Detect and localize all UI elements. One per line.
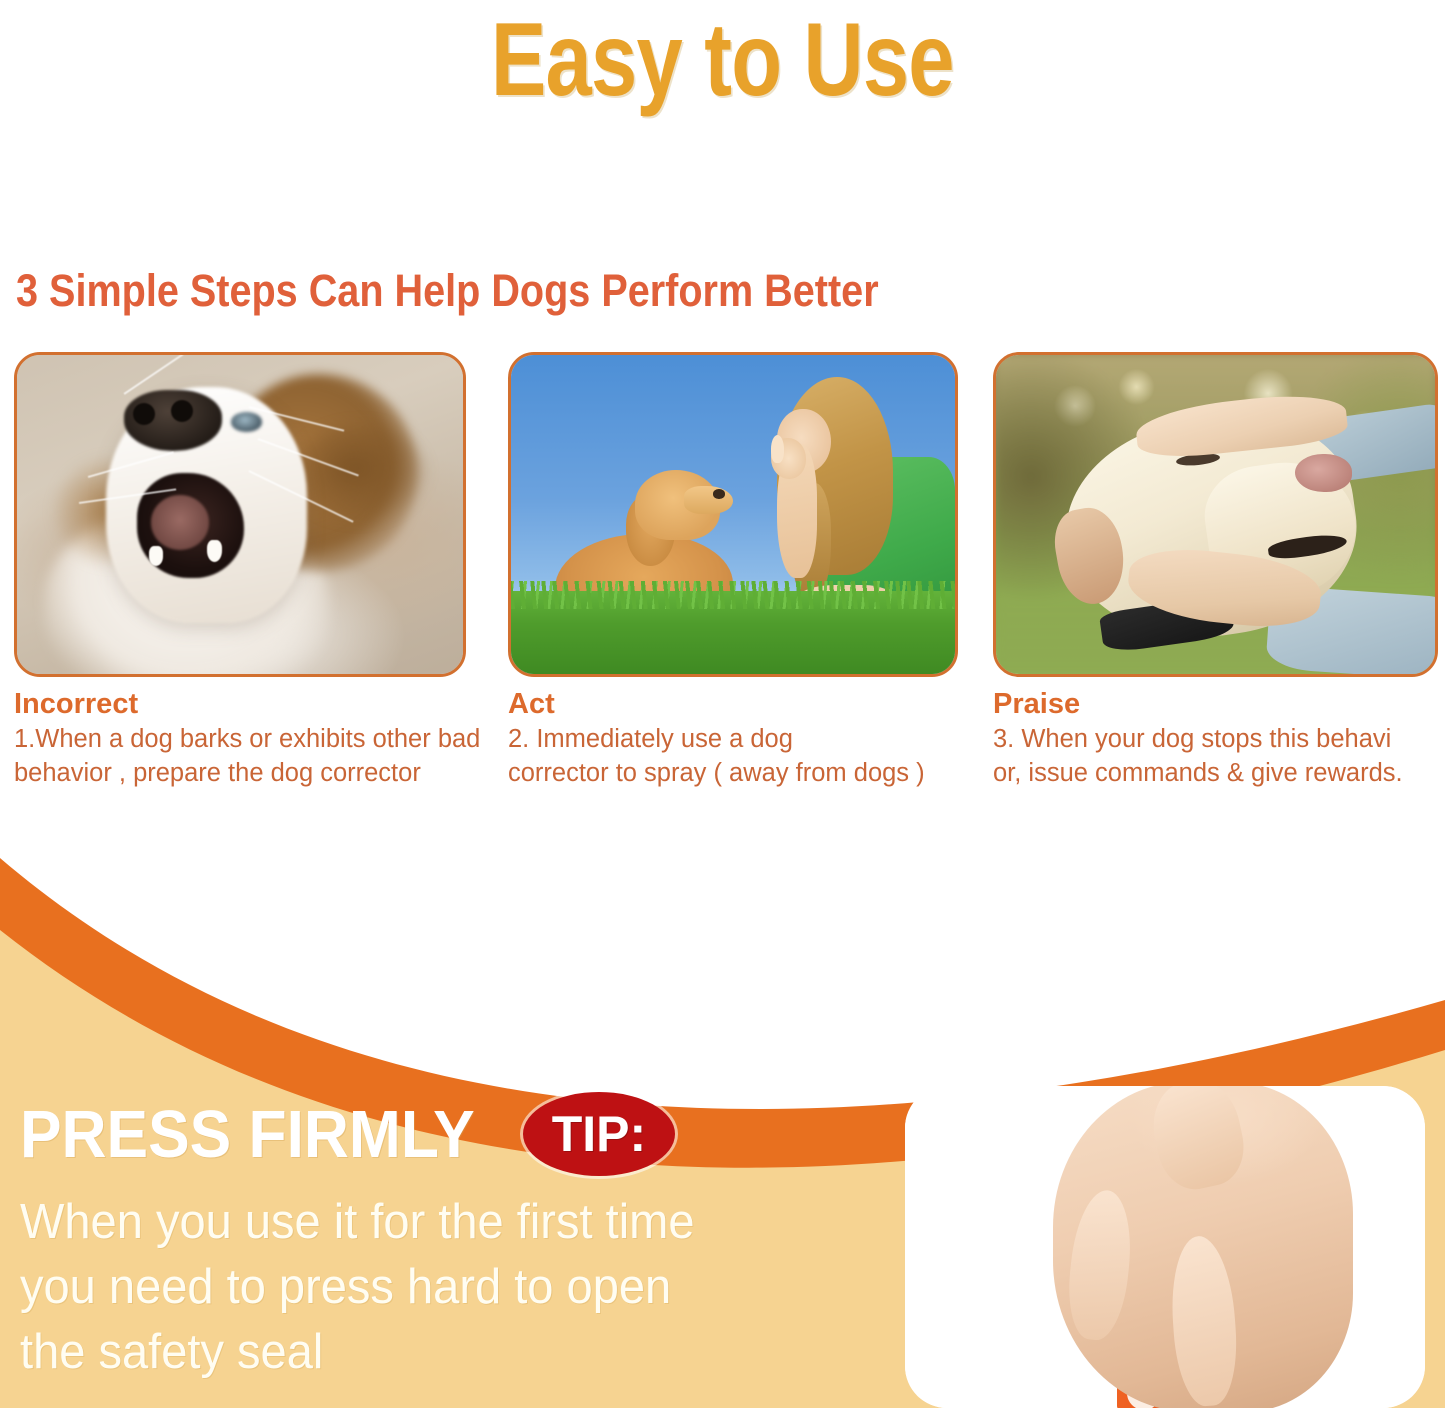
step-body-incorrect: 1.When a dog barks or exhibits other bad… xyxy=(14,723,466,791)
tip-badge-label: TIP: xyxy=(552,1109,646,1159)
title-bar: Easy to Use xyxy=(0,0,1445,120)
press-headline-row: PRESS FIRMLY TIP: xyxy=(20,1092,880,1176)
hand-holding-spray-can-image: ✿ ✋ ⊘ ☀ xyxy=(905,1086,1425,1408)
subtitle-row: 3 Simple Steps Can Help Dogs Perform Bet… xyxy=(16,262,1016,318)
press-description-line: the safety seal xyxy=(20,1320,846,1385)
step-photo-act xyxy=(508,352,958,677)
step-body-line: or, issue commands & give rewards. xyxy=(993,757,1438,791)
petting-labrador-image xyxy=(996,355,1435,674)
press-firmly-headline: PRESS FIRMLY xyxy=(20,1101,475,1168)
press-description-line: When you use it for the first time xyxy=(20,1190,846,1255)
step-heading-incorrect: Incorrect xyxy=(14,686,466,722)
press-description-line: you need to press hard to open xyxy=(20,1255,846,1320)
step-body-line: corrector to spray ( away from dogs ) xyxy=(508,757,958,791)
step-body-line: 3. When your dog stops this behavi xyxy=(993,723,1438,757)
step-body-line: behavior , prepare the dog corrector xyxy=(14,757,466,791)
step-card-praise: Praise 3. When your dog stops this behav… xyxy=(993,352,1438,791)
step-heading-act: Act xyxy=(508,686,958,722)
step-body-praise: 3. When your dog stops this behavi or, i… xyxy=(993,723,1438,791)
step-body-line: 1.When a dog barks or exhibits other bad xyxy=(14,723,466,757)
press-firmly-block: PRESS FIRMLY TIP: When you use it for th… xyxy=(20,1092,880,1392)
step-heading-praise: Praise xyxy=(993,686,1438,722)
subtitle-text: 3 Simple Steps Can Help Dogs Perform Bet… xyxy=(16,268,879,313)
step-photo-incorrect xyxy=(14,352,466,677)
step-card-act: Act 2. Immediately use a dog corrector t… xyxy=(508,352,958,791)
woman-training-dog-image xyxy=(511,355,955,674)
steps-row: Incorrect 1.When a dog barks or exhibits… xyxy=(0,352,1445,812)
step-body-act: 2. Immediately use a dog corrector to sp… xyxy=(508,723,958,791)
press-description: When you use it for the first time you n… xyxy=(20,1190,880,1385)
step-body-line: 2. Immediately use a dog xyxy=(508,723,958,757)
product-photo-card: ✿ ✋ ⊘ ☀ xyxy=(905,1086,1425,1408)
barking-dog-image xyxy=(17,355,463,674)
step-card-incorrect: Incorrect 1.When a dog barks or exhibits… xyxy=(14,352,466,791)
step-photo-praise xyxy=(993,352,1438,677)
tip-badge: TIP: xyxy=(523,1092,675,1176)
page-title: Easy to Use xyxy=(491,8,954,112)
